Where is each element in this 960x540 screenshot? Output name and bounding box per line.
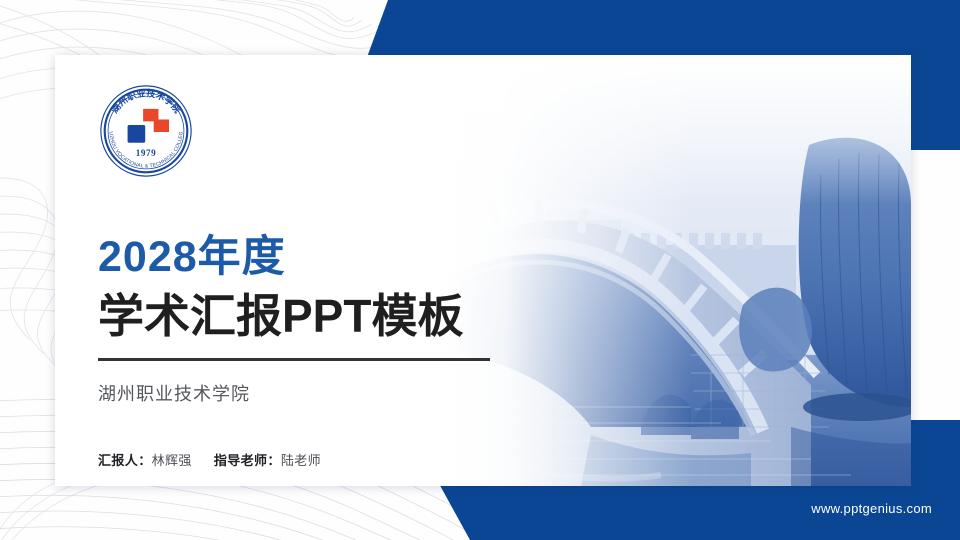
presenter-info: 汇报人：林辉强指导老师：陆老师 [98, 450, 321, 469]
presenter-label: 汇报人： [98, 453, 152, 468]
presentation-slide: 湖州职业技术学院 HUZHOU VOCATIONAL & TECHNICAL C… [0, 0, 960, 540]
school-name-subtitle: 湖州职业技术学院 [98, 381, 518, 407]
school-logo: 湖州职业技术学院 HUZHOU VOCATIONAL & TECHNICAL C… [98, 83, 194, 179]
svg-text:1979: 1979 [136, 148, 157, 158]
title-main: 学术汇报PPT模板 [98, 288, 518, 344]
title-year: 2028年度 [98, 232, 518, 282]
title-divider [98, 358, 490, 361]
advisor-name: 陆老师 [281, 453, 321, 468]
site-url[interactable]: www.pptgenius.com [811, 501, 932, 516]
presenter-name: 林辉强 [152, 453, 192, 468]
content-card: 湖州职业技术学院 HUZHOU VOCATIONAL & TECHNICAL C… [55, 55, 911, 486]
title-block: 2028年度 学术汇报PPT模板 湖州职业技术学院 [98, 232, 518, 407]
advisor-label: 指导老师： [214, 453, 281, 468]
